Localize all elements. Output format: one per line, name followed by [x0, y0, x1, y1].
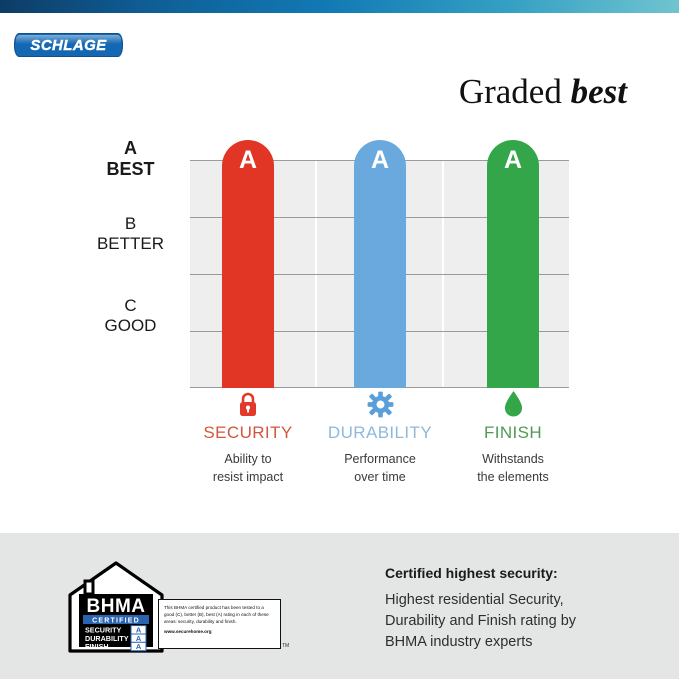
category-finish: FINISH Withstands the elements	[438, 390, 588, 486]
axis-letter-c: C	[78, 296, 183, 316]
category-title-security: SECURITY	[173, 423, 323, 443]
axis-word-good: GOOD	[78, 316, 183, 336]
axis-label-better: B BETTER	[78, 214, 183, 254]
grade-chart: A BEST B BETTER C GOOD A A A SECURITY Ab…	[0, 0, 679, 533]
trademark-mark: TM	[282, 643, 289, 649]
bar-grade-security: A	[239, 148, 257, 388]
svg-text:FINISH: FINISH	[85, 642, 109, 651]
bhma-certification-badge: BHMA CERTIFIED SECURITY A DURABILITY A F…	[68, 561, 286, 653]
category-title-durability: DURABILITY	[305, 423, 455, 443]
category-description-finish: Withstands the elements	[438, 451, 588, 486]
category-description-durability: Performance over time	[305, 451, 455, 486]
padlock-icon	[173, 390, 323, 418]
axis-label-good: C GOOD	[78, 296, 183, 336]
axis-label-best: A BEST	[78, 138, 183, 180]
bar-finish: A	[487, 140, 539, 388]
category-desc-line2: resist impact	[173, 469, 323, 487]
bar-grade-durability: A	[371, 148, 389, 388]
category-desc-line2: over time	[305, 469, 455, 487]
bhma-note-text: This BHMA certified product has been tes…	[164, 604, 275, 625]
bar-grade-finish: A	[504, 148, 522, 388]
axis-letter-b: B	[78, 214, 183, 234]
category-durability: DURABILITY Performance over time	[305, 390, 455, 486]
axis-letter-a: A	[78, 138, 183, 159]
gear-icon	[305, 390, 455, 418]
svg-text:A: A	[136, 642, 142, 651]
footer-body-line1: Highest residential Security,	[385, 590, 655, 611]
bar-durability: A	[354, 140, 406, 388]
svg-text:BHMA: BHMA	[87, 596, 146, 617]
footer-heading: Certified highest security:	[385, 565, 655, 581]
category-security: SECURITY Ability to resist impact	[173, 390, 323, 486]
axis-word-better: BETTER	[78, 234, 183, 254]
bhma-house-shape: BHMA CERTIFIED SECURITY A DURABILITY A F…	[68, 561, 164, 653]
bhma-note-url: www.securehome.org	[164, 628, 275, 635]
category-title-finish: FINISH	[438, 423, 588, 443]
bar-security: A	[222, 140, 274, 388]
footer-copy: Certified highest security: Highest resi…	[385, 565, 655, 653]
category-desc-line1: Ability to	[173, 451, 323, 469]
category-description-security: Ability to resist impact	[173, 451, 323, 486]
droplet-icon	[438, 390, 588, 418]
footer-body-line2: Durability and Finish rating by	[385, 611, 655, 632]
category-desc-line2: the elements	[438, 469, 588, 487]
category-desc-line1: Performance	[305, 451, 455, 469]
axis-word-best: BEST	[78, 159, 183, 180]
category-desc-line1: Withstands	[438, 451, 588, 469]
footer-body-line3: BHMA industry experts	[385, 632, 655, 653]
footer-body: Highest residential Security, Durability…	[385, 590, 655, 653]
bhma-note-box: This BHMA certified product has been tes…	[158, 599, 281, 649]
svg-text:CERTIFIED: CERTIFIED	[92, 617, 140, 624]
footer-section: BHMA CERTIFIED SECURITY A DURABILITY A F…	[0, 533, 679, 679]
